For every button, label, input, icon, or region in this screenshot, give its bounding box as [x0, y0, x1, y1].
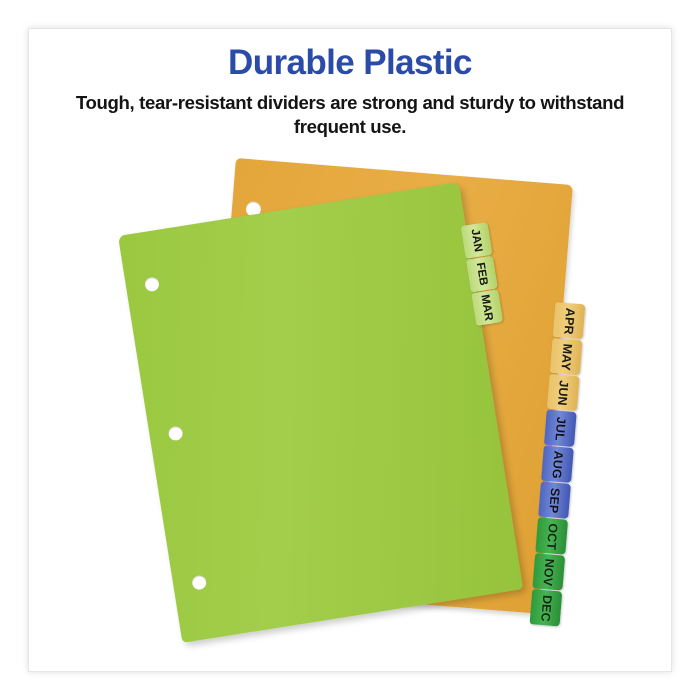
punch-hole-middle: [168, 425, 184, 441]
tab-sep: SEP: [538, 482, 571, 519]
tab-mar: MAR: [471, 289, 503, 326]
tab-may: MAY: [550, 338, 583, 375]
tab-label-aug: AUG: [549, 450, 565, 479]
tab-label-sep: SEP: [547, 487, 563, 513]
orange-divider-tab-column: APR MAY JUN JUL AUG SEP OCT NOV DEC: [529, 302, 585, 627]
tab-label-jan: JAN: [468, 228, 484, 253]
punch-hole-top: [144, 276, 160, 292]
page-subtitle: Tough, tear-resistant dividers are stron…: [70, 91, 630, 139]
tab-jun: JUN: [547, 374, 580, 411]
tab-label-jul: JUL: [552, 416, 568, 441]
tab-label-oct: OCT: [544, 522, 560, 550]
tab-label-dec: DEC: [538, 594, 554, 622]
tab-aug: AUG: [541, 446, 574, 483]
tab-label-nov: NOV: [541, 558, 557, 586]
tab-nov: NOV: [532, 553, 565, 590]
page-title: Durable Plastic: [40, 44, 660, 82]
tab-label-mar: MAR: [479, 294, 496, 322]
tab-label-feb: FEB: [474, 262, 490, 287]
green-divider-sheet: JAN FEB MAR: [118, 182, 523, 643]
subtitle-line-1: Tough, tear-resistant dividers are stron…: [76, 92, 514, 113]
tab-label-may: MAY: [558, 343, 574, 371]
tab-apr: APR: [553, 302, 586, 339]
tab-label-apr: APR: [561, 307, 577, 335]
product-feature-image: Durable Plastic Tough, tear-resistant di…: [0, 0, 700, 700]
tab-oct: OCT: [535, 517, 568, 554]
tab-jan: JAN: [461, 222, 493, 259]
tab-jul: JUL: [544, 410, 577, 447]
tab-label-jun: JUN: [555, 379, 571, 405]
punch-hole-bottom: [191, 575, 207, 591]
tab-dec: DEC: [530, 589, 563, 626]
header-block: Durable Plastic Tough, tear-resistant di…: [40, 44, 660, 139]
tab-feb: FEB: [466, 256, 498, 293]
